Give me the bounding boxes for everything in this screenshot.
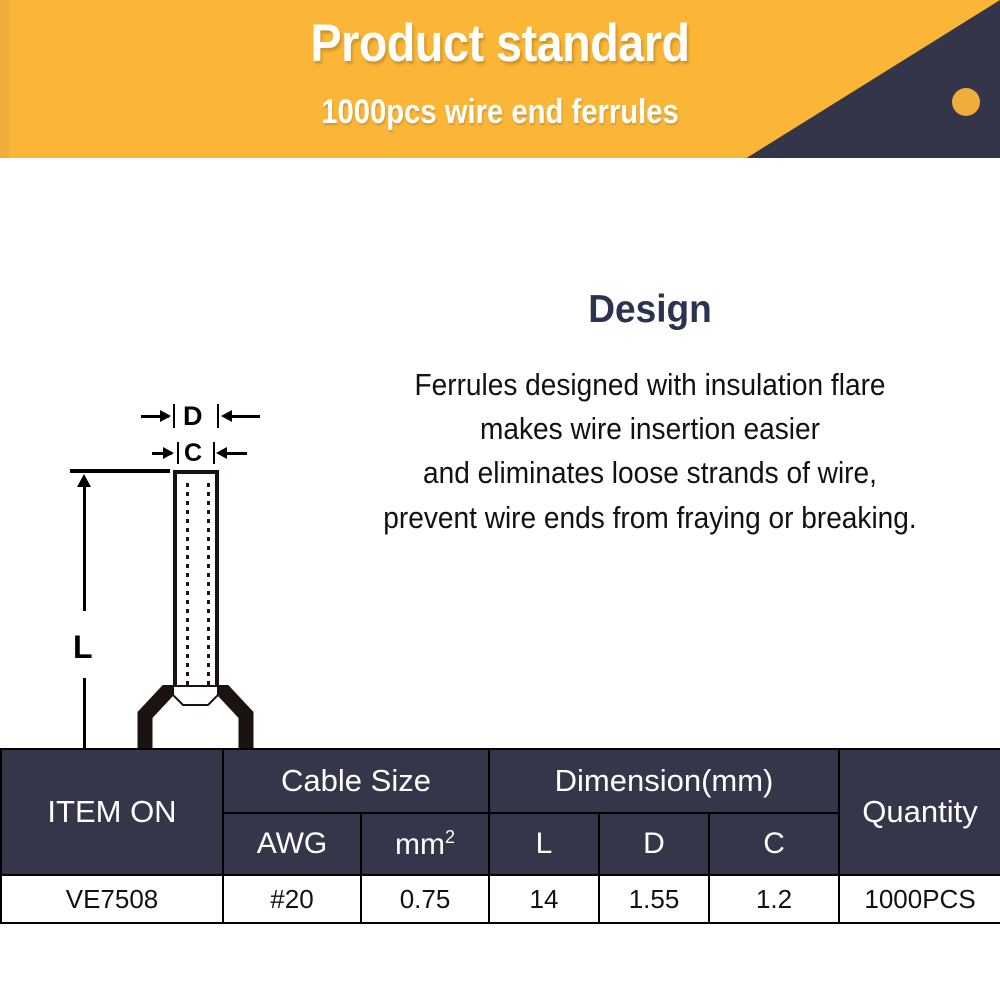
column-header-item-on: ITEM ON [1, 749, 223, 875]
dim-l-extension-top [70, 469, 170, 473]
dim-d-arrow-right [221, 410, 232, 422]
page-subtitle: 1000pcs wire end ferrules [70, 95, 930, 129]
cell-c: 1.2 [709, 875, 839, 923]
cell-l: 14 [489, 875, 599, 923]
dim-c-tick-left [177, 442, 179, 464]
cell-mm2: 0.75 [361, 875, 489, 923]
dim-c-arrow-left [163, 447, 174, 459]
spec-table-container: ITEM ON Cable Size Dimension(mm) Quantit… [0, 748, 1000, 924]
page-title: Product standard [60, 17, 940, 70]
spec-table-head: ITEM ON Cable Size Dimension(mm) Quantit… [1, 749, 1000, 875]
header-banner: Product standard 1000pcs wire end ferrul… [0, 0, 1000, 158]
design-section: Design Ferrules designed with insulation… [330, 290, 970, 540]
column-header-d: D [599, 813, 709, 875]
dim-l-line-upper [83, 486, 86, 611]
collar-flare-funnel [173, 687, 218, 705]
dim-c-tick-right [213, 442, 215, 464]
spec-table-header-row-1: ITEM ON Cable Size Dimension(mm) Quantit… [1, 749, 1000, 813]
design-heading: Design [346, 290, 954, 329]
cell-item-on: VE7508 [1, 875, 223, 923]
design-line: and eliminates loose strands of wire, [356, 451, 945, 495]
cell-d: 1.55 [599, 875, 709, 923]
dim-label-l: L [73, 631, 93, 663]
table-row: VE7508 #20 0.75 14 1.55 1.2 1000PCS [1, 875, 1000, 923]
cell-quantity: 1000PCS [839, 875, 1000, 923]
barrel-inner-wall-right [207, 483, 210, 688]
cell-awg: #20 [223, 875, 361, 923]
specification-table: ITEM ON Cable Size Dimension(mm) Quantit… [0, 748, 1000, 924]
column-header-l: L [489, 813, 599, 875]
design-line: prevent wire ends from fraying or breaki… [356, 496, 945, 540]
dim-d-line-right [232, 415, 260, 418]
design-description: Ferrules designed with insulation flare … [356, 363, 945, 540]
barrel-inner-wall-left [186, 483, 189, 688]
header-dot-decoration [952, 88, 980, 116]
ferrule-metal-barrel [173, 470, 219, 692]
dim-d-tick-right [217, 404, 219, 428]
spec-table-body: VE7508 #20 0.75 14 1.55 1.2 1000PCS [1, 875, 1000, 923]
column-header-mm2: mm2 [361, 813, 489, 875]
dim-label-c: C [184, 441, 202, 466]
header-left-edge-shade [0, 0, 9, 158]
design-line: makes wire insertion easier [356, 407, 945, 451]
column-group-header-dimension: Dimension(mm) [489, 749, 839, 813]
dim-label-d: D [183, 403, 203, 430]
column-header-awg: AWG [223, 813, 361, 875]
dim-d-tick-left [173, 404, 175, 428]
mm2-exponent: 2 [445, 827, 455, 847]
column-header-c: C [709, 813, 839, 875]
dim-d-arrow-left [160, 410, 171, 422]
design-line: Ferrules designed with insulation flare [356, 363, 945, 407]
dim-c-line-right [227, 452, 247, 455]
dim-c-arrow-right [216, 447, 227, 459]
column-header-quantity: Quantity [839, 749, 1000, 875]
column-group-header-cable-size: Cable Size [223, 749, 489, 813]
mm2-base: mm [395, 828, 445, 861]
